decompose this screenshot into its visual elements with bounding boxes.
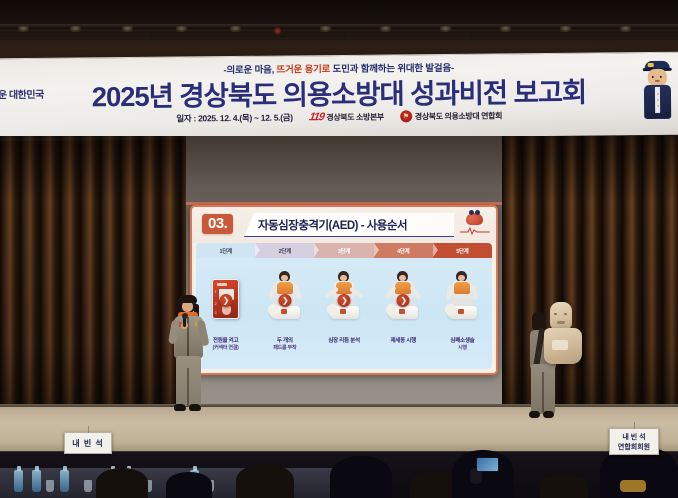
cpr-manikin-head xyxy=(550,302,572,330)
cpr-manikin-icon xyxy=(270,306,300,319)
projection-screen-upper xyxy=(186,136,502,192)
heart-ecg-icon xyxy=(460,212,490,236)
audience-member xyxy=(96,468,148,498)
stage-lamp xyxy=(230,26,241,32)
drinking-glass xyxy=(46,480,54,492)
caption-step-2: 두 개의 패드를 부착 xyxy=(255,337,314,365)
event-banner: 운 대한민국 -의로운 마음, 뜨거운 용기로 도민과 함께하는 위대한 발걸음… xyxy=(0,52,678,142)
caption-4-line1: 제세동 시행 xyxy=(390,338,416,344)
flow-arrow-icon: ❯ xyxy=(278,294,291,307)
demonstrator-figure xyxy=(445,269,479,321)
banner-date: 일자 : 2025. 12. 4.(목) ~ 12. 5.(금) xyxy=(176,111,293,124)
caption-3-line1: 심장 리듬 분석 xyxy=(328,338,360,344)
audience-member xyxy=(540,474,588,498)
stage-lamp xyxy=(320,26,331,32)
microphone-icon xyxy=(183,316,186,327)
stage-lamp xyxy=(18,26,29,32)
stage-curtain-left xyxy=(0,136,186,436)
firefighter-mascot-icon xyxy=(638,55,678,129)
step-2: 2단계 xyxy=(255,243,314,258)
caption-step-5: 심폐소생술 시행 xyxy=(433,337,492,365)
flow-arrow-icon: ❯ xyxy=(397,294,410,307)
organizer-federation-label: 경상북도 의용소방대 연합회 xyxy=(415,110,502,122)
cpr-manikin-torso xyxy=(544,328,582,364)
stage-lamp xyxy=(620,26,631,32)
step-5-label: 5단계 xyxy=(456,247,468,255)
step-ribbon: 1단계 2단계 3단계 4단계 5단계 xyxy=(196,243,492,258)
lighting-truss xyxy=(0,24,678,31)
stage-lamp xyxy=(500,26,511,32)
organizer-volunteer-federation: ⚑ 경상북도 의용소방대 연합회 xyxy=(400,109,502,122)
step-4-label: 4단계 xyxy=(397,247,409,255)
slide-number: 03. xyxy=(202,214,233,234)
caption-step-4: 제세동 시행 xyxy=(374,337,433,365)
seat-sign-left-text: 내 빈 석 xyxy=(72,438,104,449)
caption-step-3: 심장 리듬 분석 xyxy=(314,337,373,365)
slide-title: 자동심장충격기(AED) - 사용순서 xyxy=(244,217,407,233)
presentation-slide: 03. 자동심장충격기(AED) - 사용순서 1단계 2단계 3단계 4단계 … xyxy=(190,205,498,375)
caption-2-line1: 두 개의 xyxy=(277,338,293,344)
step-2-label: 2단계 xyxy=(279,247,291,255)
water-bottle xyxy=(14,470,23,492)
seat-sign-right-line1: 내 빈 석 xyxy=(622,432,645,442)
stage-lamp xyxy=(70,26,81,32)
stage-lamp-red xyxy=(274,27,281,35)
seat-sign-vip-left: 내 빈 석 xyxy=(64,432,112,454)
step-1-label: 1단계 xyxy=(219,247,231,255)
step-4: 4단계 xyxy=(374,243,433,258)
cpr-manikin-icon xyxy=(447,306,477,319)
caption-2-line2: 패드를 부착 xyxy=(256,345,313,352)
cpr-manikin-icon xyxy=(388,306,418,319)
drinking-glass xyxy=(84,480,92,492)
organizer-fire-hq-label: 경상북도 소방본부 xyxy=(326,111,384,123)
audience-scarf xyxy=(620,480,646,492)
smartphone-recording xyxy=(476,457,499,472)
water-bottle xyxy=(32,470,41,492)
stage-lamp xyxy=(440,26,451,32)
conference-hall-screenshot: 운 대한민국 -의로운 마음, 뜨거운 용기로 도민과 함께하는 위대한 발걸음… xyxy=(0,0,678,498)
caption-5-line2: 시행 xyxy=(434,345,491,352)
slide-header: 03. 자동심장충격기(AED) - 사용순서 xyxy=(192,207,496,243)
audience-member xyxy=(236,464,294,498)
flow-arrow-icon: ❯ xyxy=(338,294,351,307)
figure-step-3: ❯ xyxy=(314,261,373,323)
shield-emblem-icon: ⚑ xyxy=(400,110,412,122)
stage-lamp xyxy=(560,26,571,32)
caption-1-line1: 전원을 켜고 xyxy=(213,338,239,344)
step-1: 1단계 xyxy=(196,243,255,258)
stage-lamp xyxy=(380,26,391,32)
audience-member xyxy=(330,456,392,498)
figure-step-2: ❯ xyxy=(255,261,314,323)
organizer-fire-hq: 119 경상북도 소방본부 xyxy=(309,111,384,124)
step-3-label: 3단계 xyxy=(338,247,350,255)
figure-step-5 xyxy=(433,261,492,323)
slide-body: 1단계 2단계 3단계 4단계 5단계 1 2 3 ❯ xyxy=(196,243,492,369)
step-5: 5단계 xyxy=(433,243,492,258)
water-bottle xyxy=(60,470,69,492)
stage-lamp xyxy=(176,26,187,32)
step-captions: 전원을 켜고 (커넥터 연결) 두 개의 패드를 부착 심장 리듬 분석 제세동… xyxy=(196,337,492,365)
staff-carrying-cpr-manikin xyxy=(528,302,584,420)
step-3: 3단계 xyxy=(314,243,373,258)
ecg-line-icon xyxy=(460,226,490,235)
figure-step-4: ❯ xyxy=(374,261,433,323)
flow-arrow-icon: ❯ xyxy=(219,294,232,307)
audience-member xyxy=(166,472,212,498)
presenter-with-microphone xyxy=(168,296,208,420)
cpr-manikin-icon xyxy=(329,306,359,319)
seat-sign-right-line2: 연합회회원 xyxy=(618,442,650,452)
procedure-figures: 1 2 3 ❯ ❯ xyxy=(196,261,492,323)
slide-title-banner: 자동심장충격기(AED) - 사용순서 xyxy=(244,213,454,237)
seat-sign-vip-right: 내 빈 석 연합회회원 xyxy=(609,428,659,455)
caption-5-line1: 심폐소생술 xyxy=(450,338,474,344)
stage-lamp xyxy=(122,26,133,32)
119-logo-icon: 119 xyxy=(308,111,325,123)
